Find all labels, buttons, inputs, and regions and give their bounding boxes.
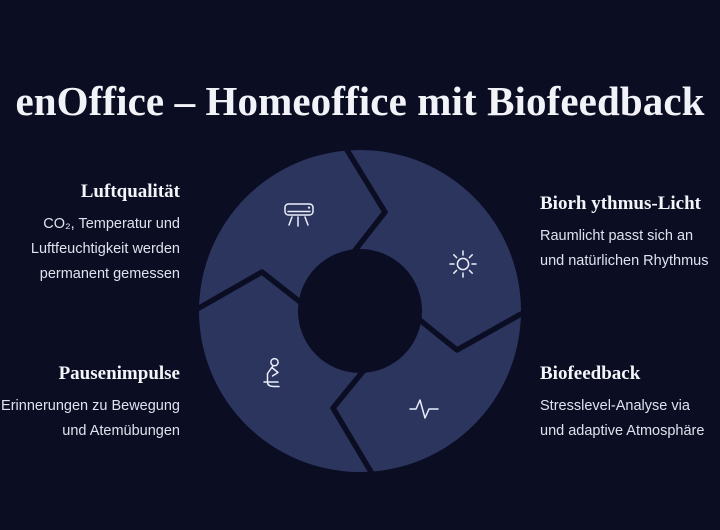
feature-heading: Luftqualität xyxy=(0,180,180,203)
feature-line: Luftfeuchtigkeit werden xyxy=(0,237,180,262)
feature-heading: Pausenimpulse xyxy=(0,362,180,385)
slide-canvas: enOffice – Homeoffice mit Biofeedback xyxy=(0,0,720,530)
feature-block-biorhythmus: Biorh ythmus-Licht Raumlicht passt sich … xyxy=(540,192,720,274)
donut-ring xyxy=(199,150,521,472)
feature-line: Stresslevel-Analyse via xyxy=(540,394,720,419)
feature-line: Erinnerungen zu Bewegung xyxy=(0,394,180,419)
donut-inner-hole xyxy=(298,249,422,373)
feature-block-luftqualitaet: Luftqualität CO₂, Temperatur und Luftfeu… xyxy=(0,180,180,287)
feature-line: CO₂, Temperatur und xyxy=(0,212,180,237)
feature-block-biofeedback: Biofeedback Stresslevel-Analyse via und … xyxy=(540,362,720,444)
feature-line: und Atemübungen xyxy=(0,419,180,444)
feature-line: und adaptive Atmosphäre xyxy=(540,419,720,444)
feature-block-pausenimpulse: Pausenimpulse Erinnerungen zu Bewegung u… xyxy=(0,362,180,444)
feature-heading: Biofeedback xyxy=(540,362,720,385)
feature-line: permanent gemessen xyxy=(0,262,180,287)
feature-line: Raumlicht passt sich an xyxy=(540,224,720,249)
donut-diagram xyxy=(199,150,521,472)
feature-line: und natürlichen Rhythmus xyxy=(540,249,720,274)
feature-heading: Biorh ythmus-Licht xyxy=(540,192,720,215)
page-title: enOffice – Homeoffice mit Biofeedback xyxy=(15,76,704,126)
